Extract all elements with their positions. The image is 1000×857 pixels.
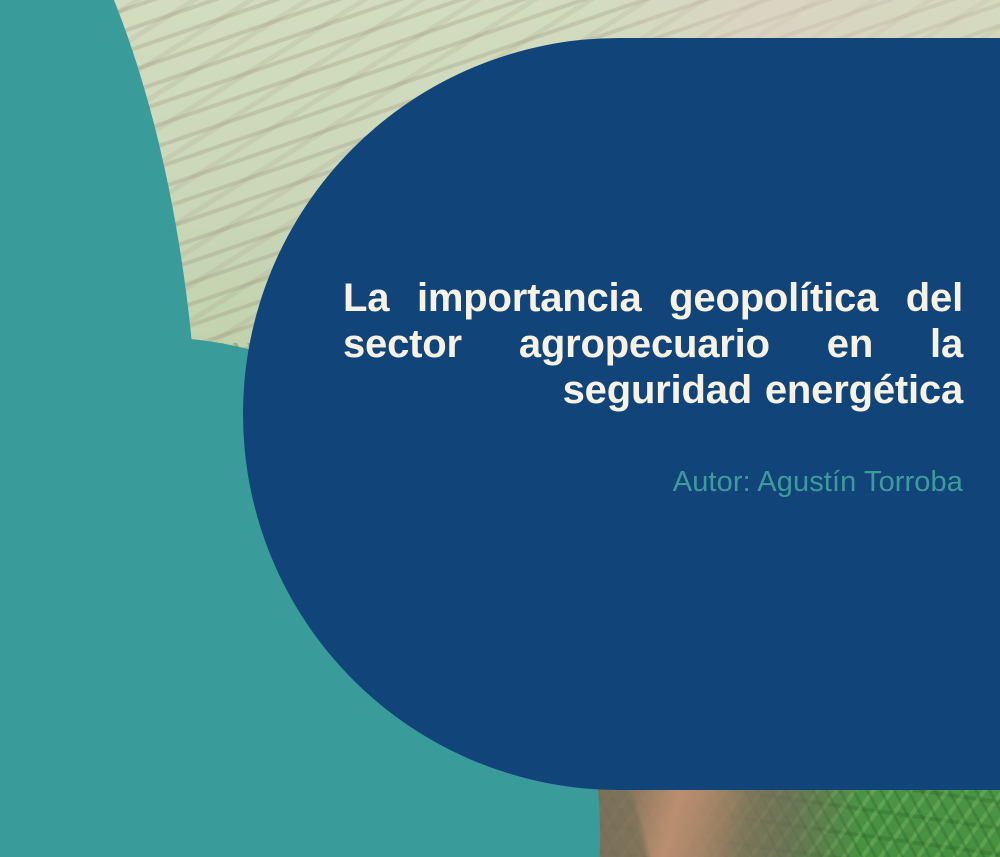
author-credit: Autor: Agustín Torroba (343, 465, 963, 499)
page-title: La importancia geopolítica del sector ag… (343, 275, 963, 413)
cover-text-block: La importancia geopolítica del sector ag… (343, 275, 963, 499)
photo-top-highlight (600, 0, 1000, 42)
report-cover: La importancia geopolítica del sector ag… (0, 0, 1000, 857)
